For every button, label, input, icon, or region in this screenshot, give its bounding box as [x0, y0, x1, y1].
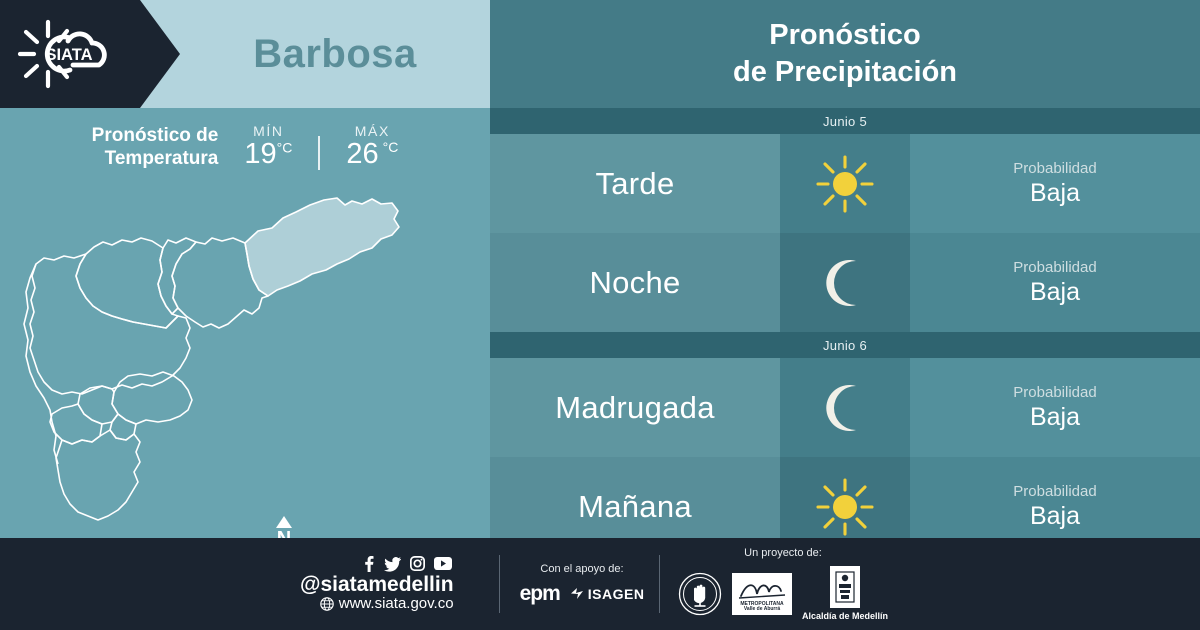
probability-value: Baja: [1030, 179, 1080, 208]
website-line[interactable]: www.siata.gov.co: [320, 596, 454, 613]
probability-caption: Probabilidad: [1013, 258, 1096, 278]
icon-cell: [780, 233, 910, 332]
project-caption: Un proyecto de:: [744, 547, 822, 559]
temperature-block: Pronóstico de Temperatura MÍN 19°C MÁX 2…: [0, 108, 490, 186]
facebook-icon[interactable]: [362, 556, 375, 572]
temperature-title-line1: Pronóstico de: [92, 124, 219, 147]
period-cell: Tarde: [490, 134, 780, 233]
date-band-junio-5: Junio 5: [490, 108, 1200, 134]
infographic-root: SIATA Barbosa Pronóstico de Temperatura …: [0, 0, 1200, 630]
min-unit: °C: [277, 139, 293, 155]
map-region-barbosa: [245, 198, 399, 296]
min-label: MÍN: [244, 123, 292, 139]
min-value-wrap: 19°C: [244, 138, 292, 171]
probability-value: Baja: [1030, 403, 1080, 432]
footer-divider-2: [659, 555, 660, 613]
map-region-itagui: [78, 386, 118, 424]
isagen-wordmark: ISAGEN: [588, 586, 645, 602]
moon-icon: [817, 255, 873, 311]
youtube-icon[interactable]: [434, 557, 452, 570]
alcaldia-crest-icon: [834, 570, 856, 604]
valle-de-aburra-map: N: [0, 186, 490, 538]
sun-cloud-icon: SIATA: [12, 14, 142, 94]
support-logos: epm ISAGEN: [520, 582, 645, 606]
udea-seal-icon: [678, 572, 722, 616]
moon-icon: [817, 380, 873, 436]
min-value: 19: [244, 138, 276, 170]
twitter-icon[interactable]: [384, 556, 401, 572]
probability-caption: Probabilidad: [1013, 159, 1096, 179]
map-svg: [0, 186, 490, 538]
social-block: @siatamedellin www.siata.gov.co: [300, 538, 454, 630]
support-column: Con el apoyo de: epm ISAGEN: [512, 538, 652, 630]
forecast-header: Pronóstico de Precipitación: [490, 0, 1200, 108]
instagram-icon[interactable]: [410, 556, 425, 571]
north-arrow-triangle: [276, 516, 292, 528]
temperature-divider: [318, 136, 320, 170]
period-label-manana: Mañana: [578, 489, 692, 525]
max-value-wrap: 26°C: [346, 138, 398, 171]
max-value: 26: [346, 138, 378, 170]
alcaldia-label: Alcaldía de Medellín: [802, 611, 888, 621]
sun-icon: [814, 153, 876, 215]
forecast-row-noche[interactable]: Noche Probabilidad Baja: [490, 233, 1200, 332]
forecast-row-madrugada[interactable]: Madrugada Probabilidad Baja: [490, 358, 1200, 457]
temperature-min: MÍN 19°C: [244, 123, 292, 171]
probability-value: Baja: [1030, 502, 1080, 531]
period-label-noche: Noche: [589, 265, 680, 301]
area-metropolitana-logo: METROPOLITANA Valle de Aburrá: [732, 573, 792, 615]
period-label-madrugada: Madrugada: [555, 390, 715, 426]
temperature-title: Pronóstico de Temperatura: [92, 124, 219, 170]
temperature-title-line2: Temperatura: [92, 147, 219, 170]
probability-cell: Probabilidad Baja: [910, 358, 1200, 457]
alcaldia-logo: Alcaldía de Medellín: [802, 566, 888, 621]
epm-logo: epm: [520, 582, 560, 606]
footer-divider-1: [499, 555, 500, 613]
forecast-panel: Pronóstico de Precipitación Junio 5 Tard…: [490, 0, 1200, 538]
probability-cell: Probabilidad Baja: [910, 134, 1200, 233]
period-label-tarde: Tarde: [595, 166, 674, 202]
area-line2: Valle de Aburrá: [744, 607, 780, 613]
icon-cell: [780, 358, 910, 457]
isagen-mark-icon: [570, 587, 585, 600]
map-region-west-boundary: [24, 264, 58, 464]
icon-cell: [780, 134, 910, 233]
temperature-max: MÁX 26°C: [346, 123, 398, 171]
period-cell: Noche: [490, 233, 780, 332]
map-region-la-estrella: [50, 404, 102, 444]
probability-caption: Probabilidad: [1013, 383, 1096, 403]
forecast-title-line2: de Precipitación: [733, 54, 957, 91]
sun-icon: [814, 476, 876, 538]
city-name: Barbosa: [180, 0, 490, 108]
probability-cell: Probabilidad Baja: [910, 233, 1200, 332]
social-icons: [362, 556, 452, 572]
left-panel: SIATA Barbosa Pronóstico de Temperatura …: [0, 0, 490, 538]
isagen-logo: ISAGEN: [570, 586, 645, 602]
support-caption: Con el apoyo de:: [540, 563, 623, 575]
footer: @siatamedellin www.siata.gov.co Con el a…: [0, 538, 1200, 630]
forecast-row-tarde[interactable]: Tarde Pro: [490, 134, 1200, 233]
map-region-envigado: [112, 372, 192, 424]
max-label: MÁX: [346, 123, 398, 139]
probability-caption: Probabilidad: [1013, 482, 1096, 502]
website-url: www.siata.gov.co: [339, 596, 454, 613]
globe-icon: [320, 597, 334, 611]
social-handle[interactable]: @siatamedellin: [300, 574, 454, 596]
probability-value: Baja: [1030, 278, 1080, 307]
map-region-bello: [76, 238, 178, 328]
project-logos: METROPOLITANA Valle de Aburrá Alcaldía d…: [678, 566, 888, 621]
area-script-icon: [737, 578, 787, 602]
period-cell: Madrugada: [490, 358, 780, 457]
logo-wordmark: SIATA: [45, 46, 92, 64]
project-column: Un proyecto de: METROPOLITANA: [668, 538, 898, 630]
forecast-title-line1: Pronóstico: [769, 17, 920, 54]
map-region-caldas: [56, 430, 140, 520]
date-band-junio-6: Junio 6: [490, 332, 1200, 358]
max-unit: °C: [383, 139, 399, 155]
